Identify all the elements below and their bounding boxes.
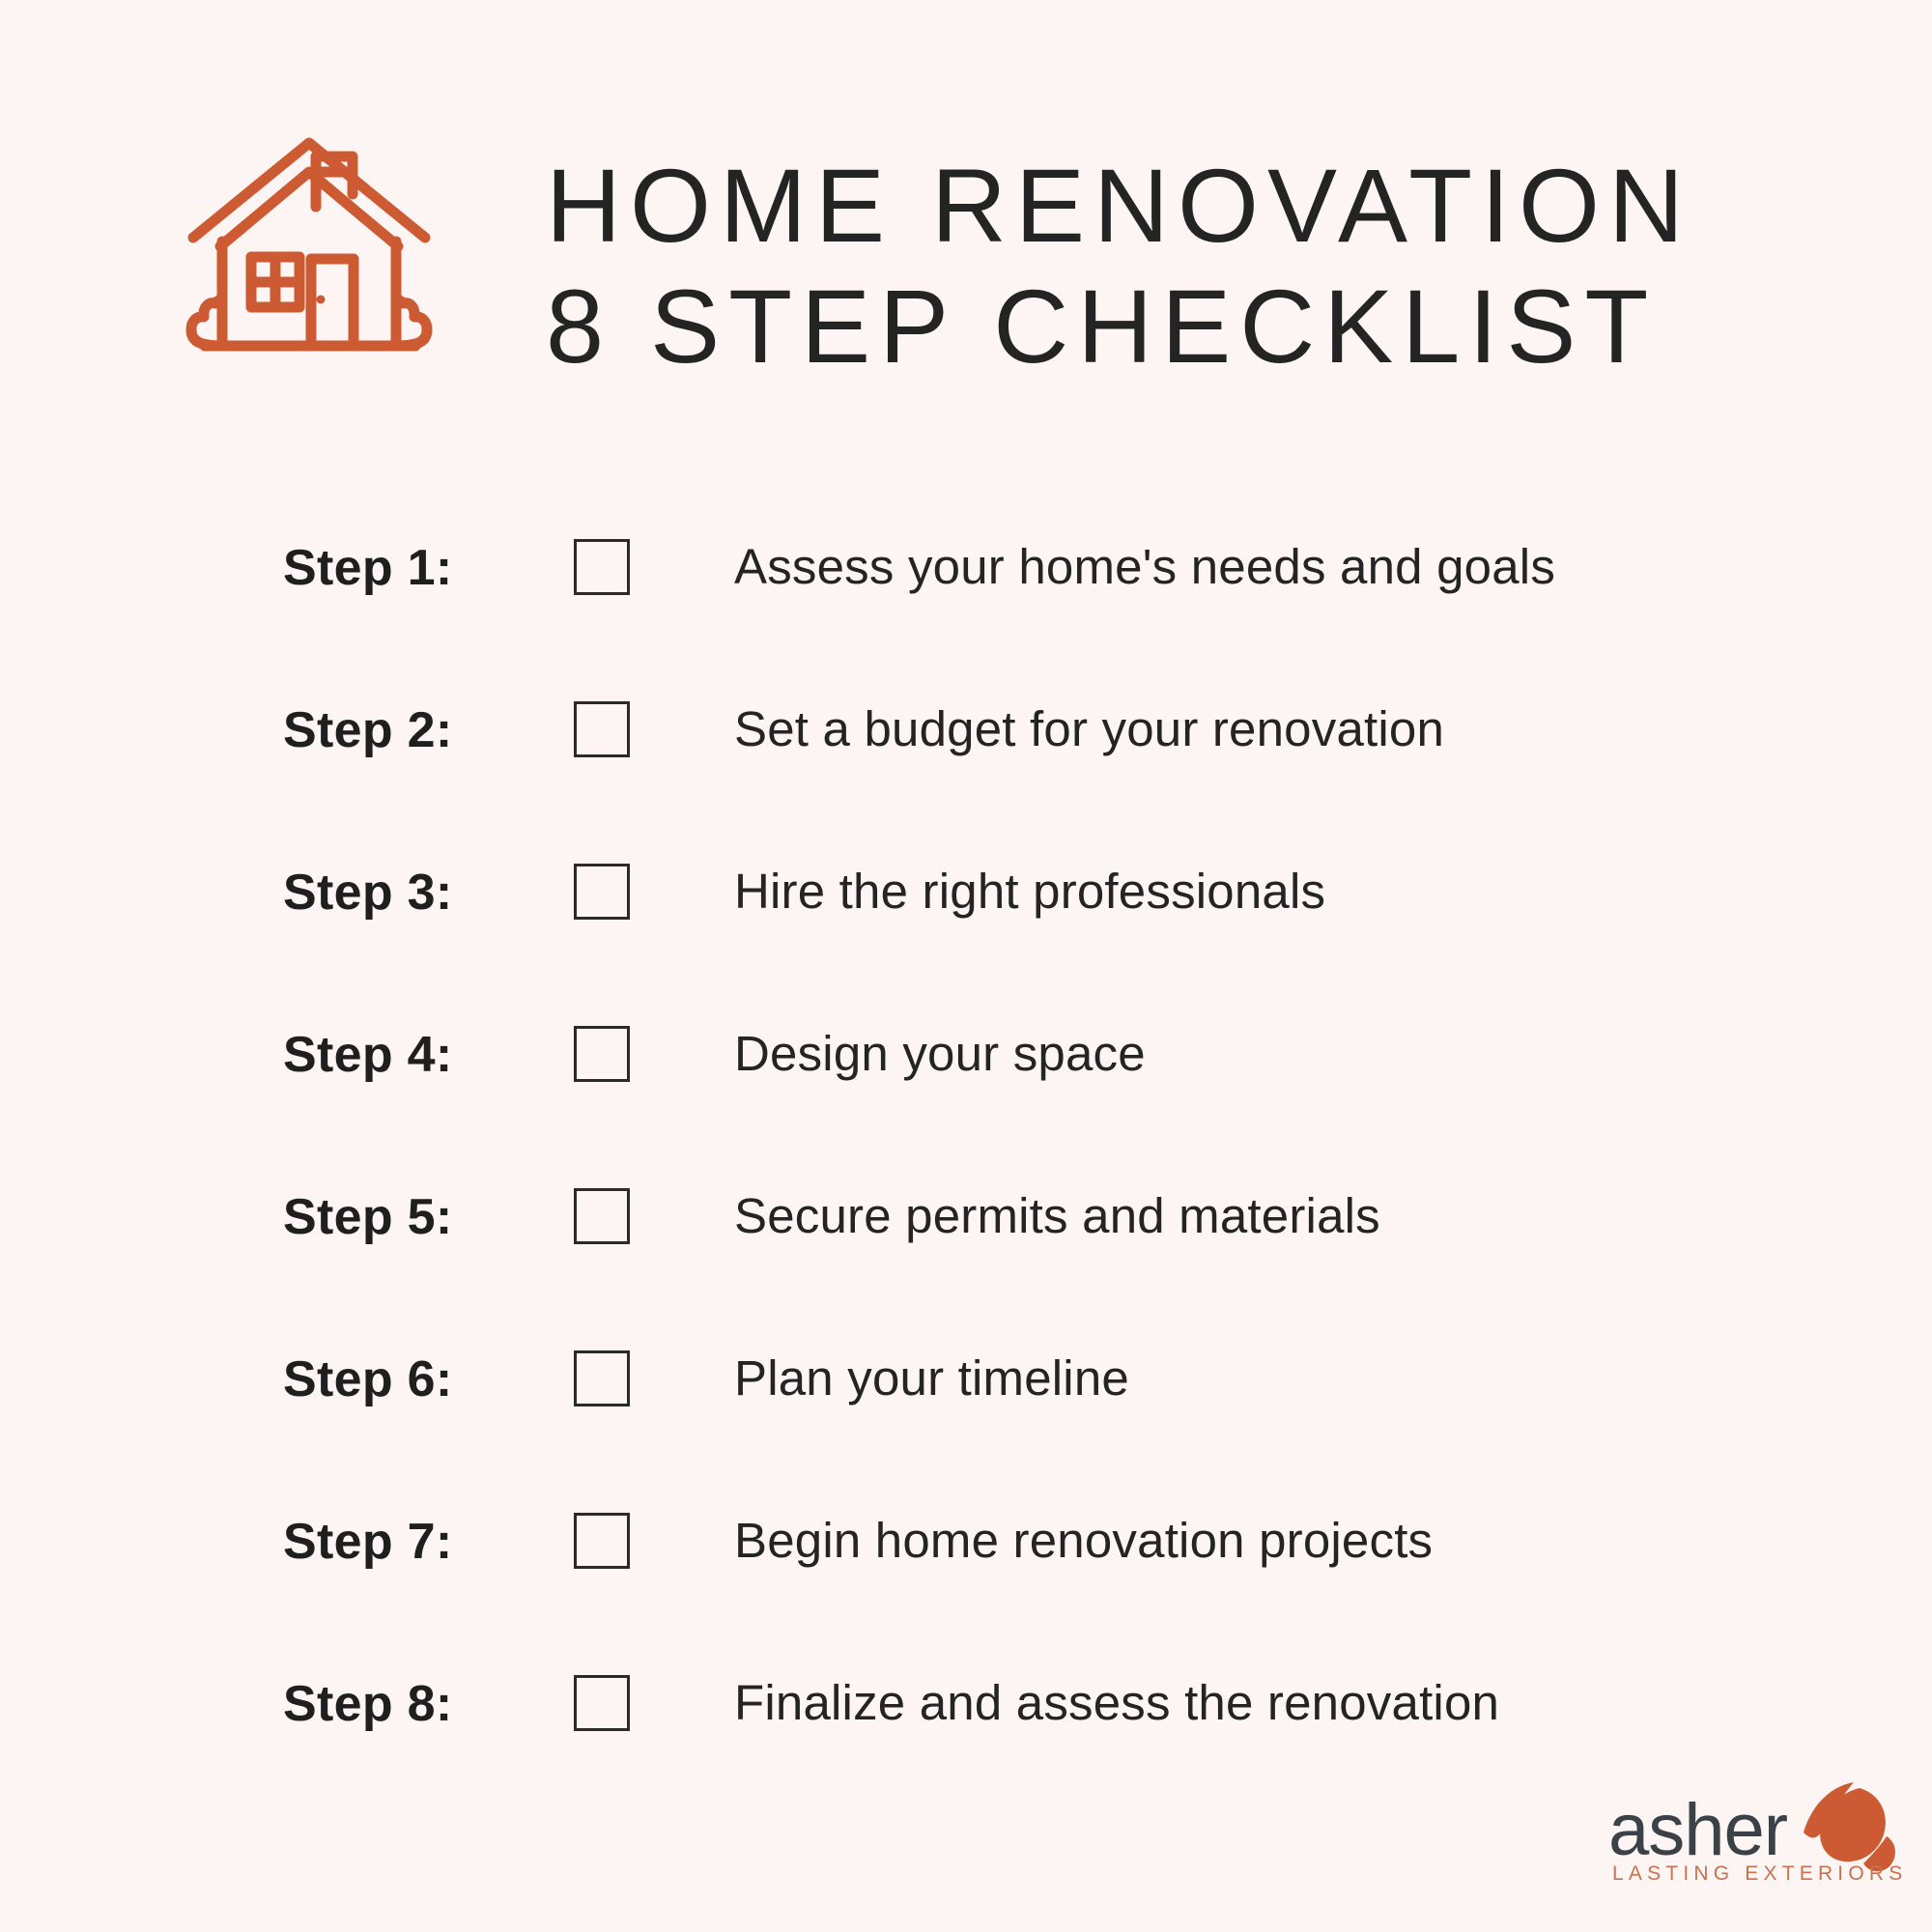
title-line-2: 8 STEP CHECKLIST — [546, 266, 1831, 386]
checklist-row: Step 8: Finalize and assess the renovati… — [0, 1648, 1932, 1810]
step-text: Design your space — [734, 1024, 1146, 1084]
checklist-row: Step 1: Assess your home's needs and goa… — [0, 512, 1932, 674]
step-text: Plan your timeline — [734, 1349, 1129, 1408]
checklist-row: Step 4: Design your space — [0, 999, 1932, 1161]
checklist-poster: HOME RENOVATION 8 STEP CHECKLIST Step 1:… — [0, 0, 1932, 1932]
step-text: Assess your home's needs and goals — [734, 537, 1555, 597]
poster-header: HOME RENOVATION 8 STEP CHECKLIST — [0, 0, 1932, 454]
step-checkbox[interactable] — [574, 1350, 630, 1406]
step-label: Step 3: — [283, 864, 452, 922]
checklist-row: Step 6: Plan your timeline — [0, 1323, 1932, 1486]
step-label: Step 6: — [283, 1350, 452, 1408]
step-text: Hire the right professionals — [734, 862, 1325, 922]
step-label: Step 7: — [283, 1513, 452, 1571]
step-text: Set a budget for your renovation — [734, 699, 1444, 759]
step-checkbox[interactable] — [574, 701, 630, 757]
page-title: HOME RENOVATION 8 STEP CHECKLIST — [546, 145, 1831, 386]
logo-tagline: LASTING EXTERIORS — [1612, 1861, 1907, 1887]
checklist: Step 1: Assess your home's needs and goa… — [0, 512, 1932, 1810]
step-checkbox[interactable] — [574, 1026, 630, 1082]
logo-wordmark: asher — [1608, 1792, 1787, 1869]
checklist-row: Step 7: Begin home renovation projects — [0, 1486, 1932, 1648]
checklist-row: Step 5: Secure permits and materials — [0, 1161, 1932, 1323]
step-label: Step 1: — [283, 539, 452, 597]
house-icon — [184, 133, 435, 365]
step-checkbox[interactable] — [574, 1188, 630, 1244]
step-text: Secure permits and materials — [734, 1186, 1380, 1246]
step-text: Finalize and assess the renovation — [734, 1673, 1499, 1733]
step-checkbox[interactable] — [574, 1675, 630, 1731]
step-label: Step 8: — [283, 1675, 452, 1733]
step-label: Step 5: — [283, 1188, 452, 1246]
asher-logo[interactable]: asher LASTING EXTERIORS — [1608, 1792, 1918, 1903]
step-checkbox[interactable] — [574, 864, 630, 920]
step-text: Begin home renovation projects — [734, 1511, 1433, 1571]
step-checkbox[interactable] — [574, 539, 630, 595]
step-checkbox[interactable] — [574, 1513, 630, 1569]
step-label: Step 2: — [283, 701, 452, 759]
title-line-1: HOME RENOVATION — [546, 145, 1831, 266]
checklist-row: Step 3: Hire the right professionals — [0, 837, 1932, 999]
step-label: Step 4: — [283, 1026, 452, 1084]
checklist-row: Step 2: Set a budget for your renovation — [0, 674, 1932, 837]
